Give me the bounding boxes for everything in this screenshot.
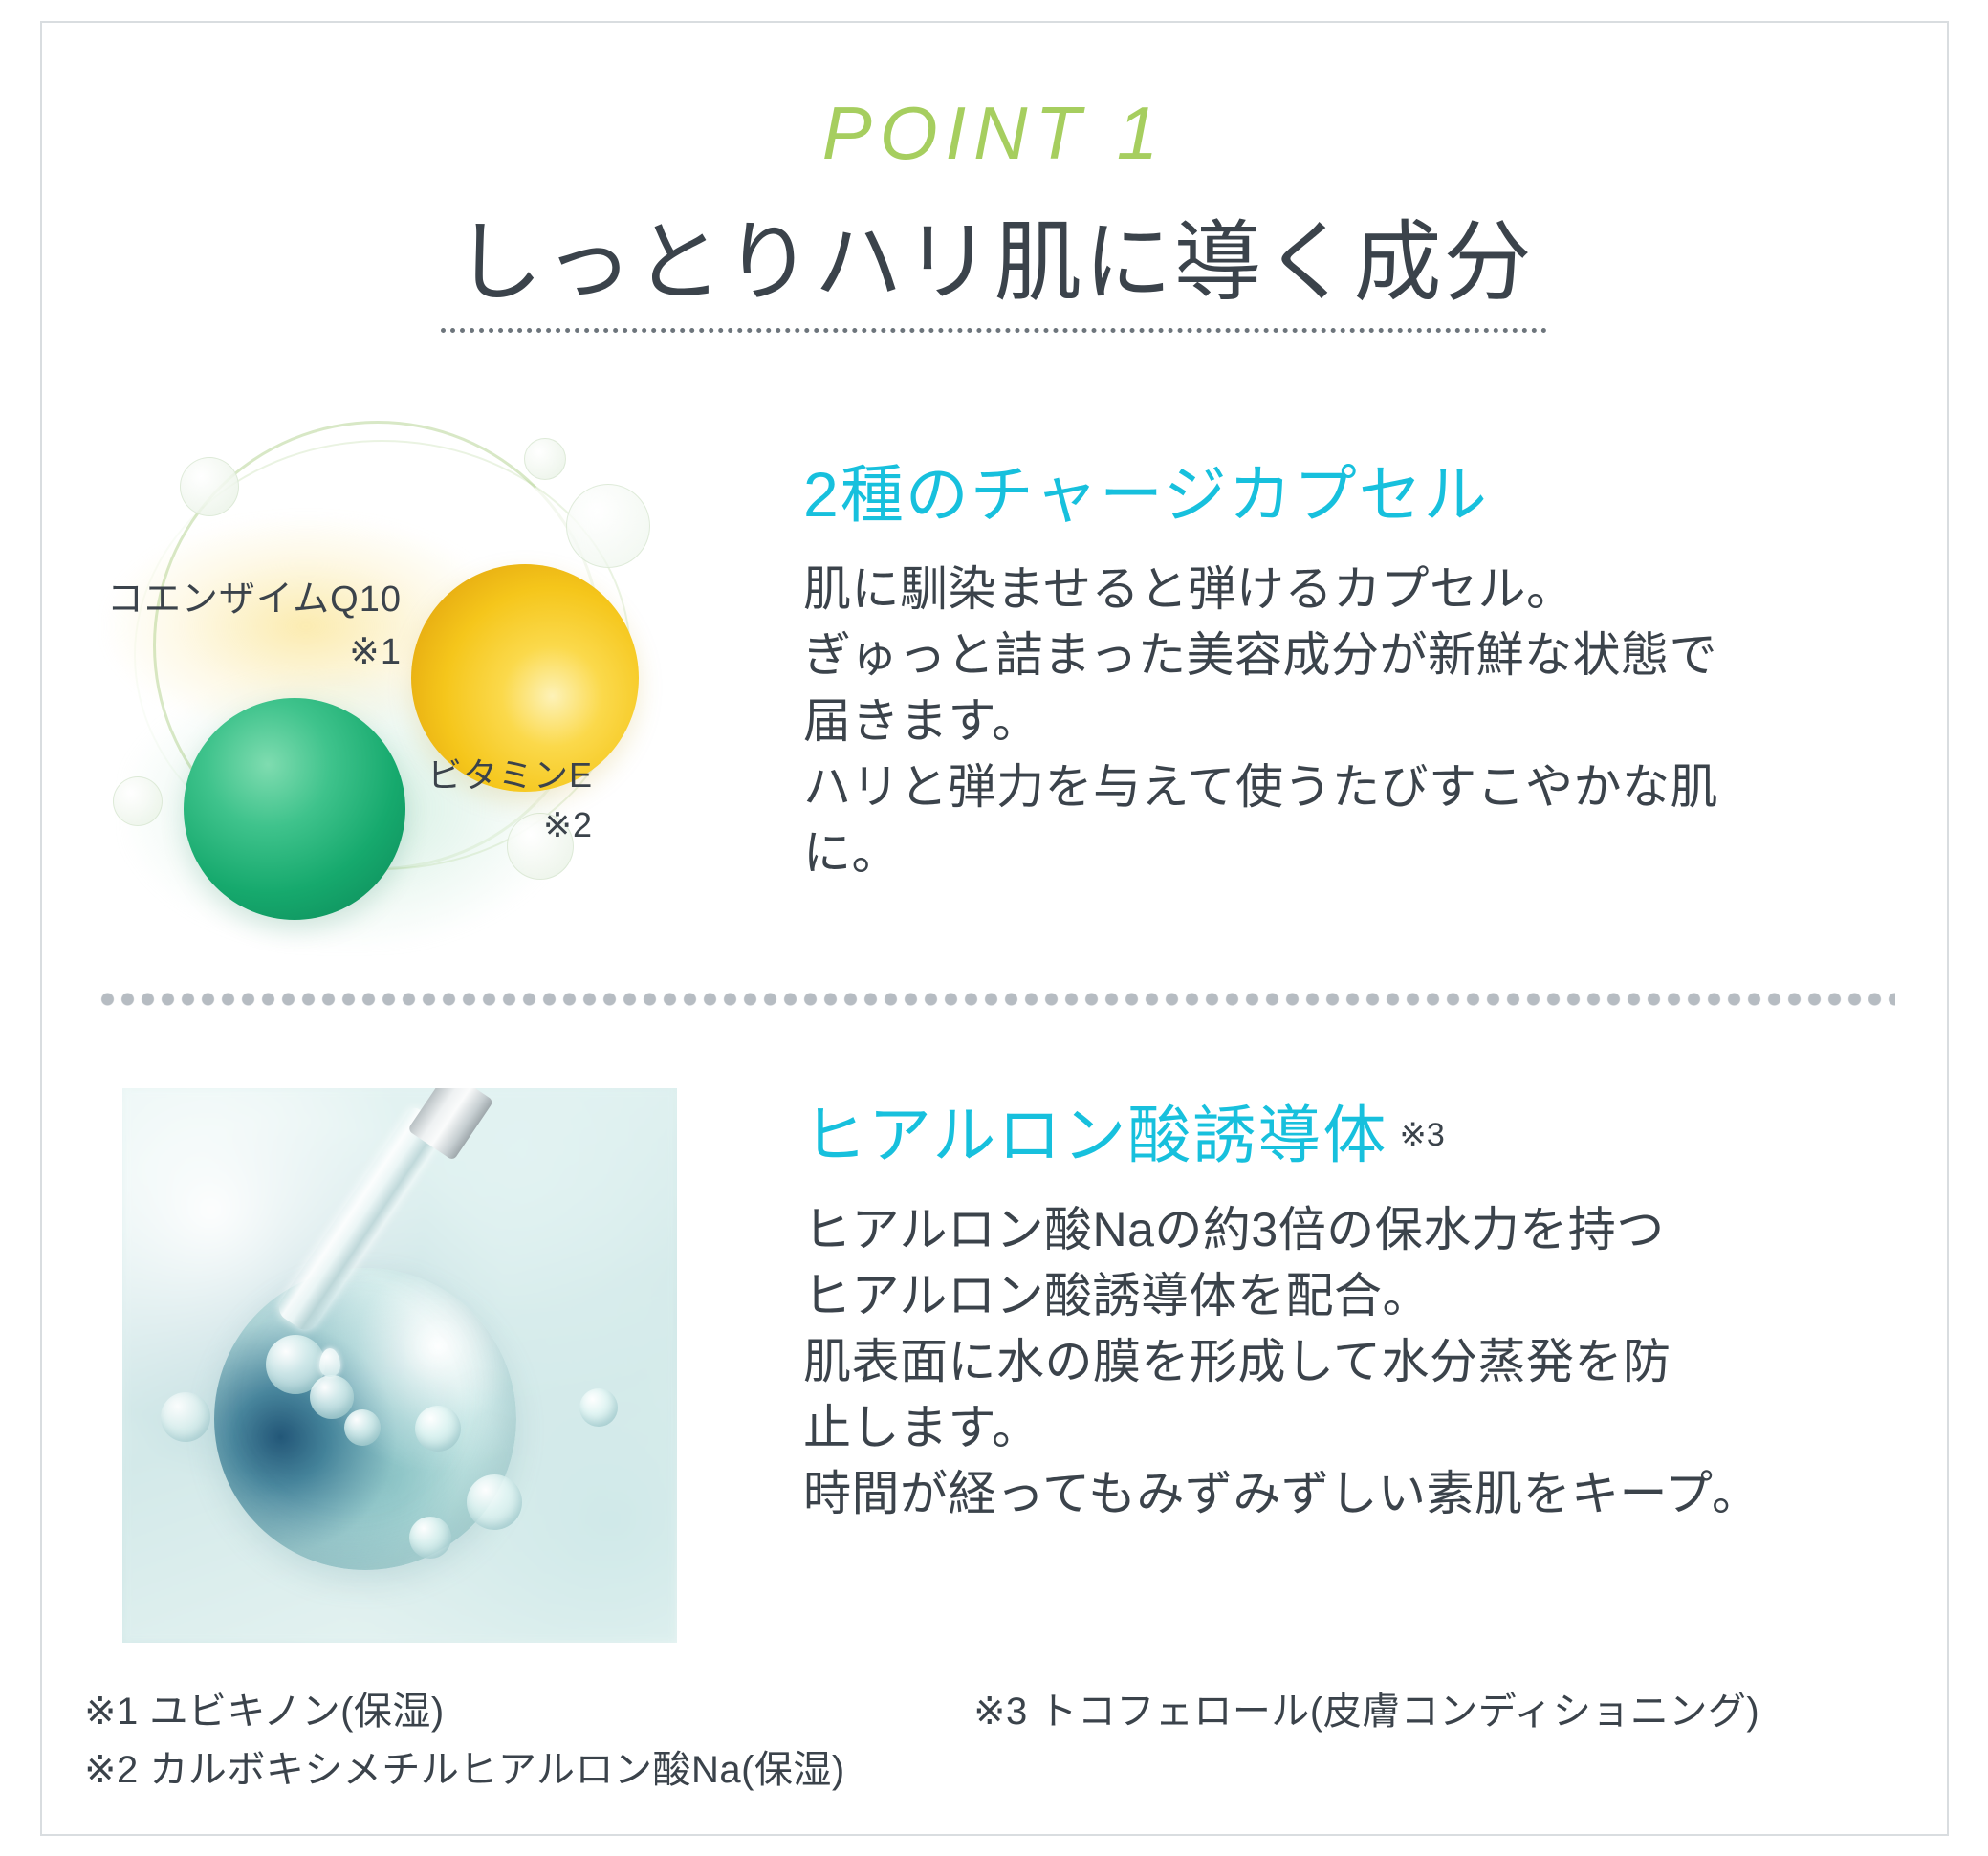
- bubble-icon: [467, 1474, 522, 1530]
- section-hyaluronic-acid-heading-text: ヒアルロン酸誘導体: [803, 1100, 1387, 1170]
- serum-drop-icon: [319, 1348, 340, 1377]
- bubble-icon: [566, 484, 650, 568]
- point-label: POINT 1: [0, 96, 1988, 170]
- footnote-item: ※2 カルボキシメチルヒアルロン酸Na(保湿): [84, 1741, 973, 1800]
- body-line: 時間が経ってもみずみずしい素肌をキープ。: [803, 1461, 1951, 1527]
- bubble-icon: [344, 1409, 381, 1446]
- page-title-wrap: しっとりハリ肌に導く成分: [0, 214, 1988, 333]
- vitamin-e-label-note: ※2: [363, 800, 593, 850]
- section-hyaluronic-acid-heading-note: ※3: [1399, 1117, 1444, 1153]
- coenzyme-q10-label-text: コエンザイムQ10: [107, 579, 402, 620]
- bubble-icon: [180, 457, 239, 516]
- footnote-item: ※1 ユビキノン(保湿): [84, 1683, 973, 1741]
- section-charge-capsule-body: 肌に馴染ませると弾けるカプセル。 ぎゅっと詰まった美容成分が新鮮な状態で 届きま…: [803, 557, 1932, 886]
- body-line: ヒアルロン酸誘導体を配合。: [803, 1263, 1951, 1329]
- bubble-icon: [310, 1375, 354, 1419]
- section-charge-capsule: コエンザイムQ10 ※1 ビタミンE ※2 2種のチャージカプセル 肌に馴染ませ…: [57, 411, 1932, 947]
- body-line: 止します。: [803, 1395, 1951, 1461]
- page-title: しっとりハリ肌に導く成分: [441, 214, 1546, 333]
- body-line: ハリと弾力を与えて使うたびすこやかな肌: [803, 754, 1932, 820]
- footnote-item: ※3 トコフェロール(皮膚コンディショニング): [973, 1683, 1920, 1741]
- body-line: 肌表面に水の膜を形成して水分蒸発を防: [803, 1329, 1951, 1395]
- bubble-icon: [524, 438, 566, 480]
- body-line: に。: [803, 820, 1932, 886]
- section-hyaluronic-acid-text: ヒアルロン酸誘導体※3 ヒアルロン酸Naの約3倍の保水力を持つ ヒアルロン酸誘導…: [803, 1100, 1951, 1527]
- body-line: 届きます。: [803, 688, 1932, 754]
- bubble-icon: [579, 1388, 618, 1427]
- body-line: 肌に馴染ませると弾けるカプセル。: [803, 557, 1932, 622]
- bubble-icon: [161, 1392, 210, 1442]
- section-charge-capsule-text: 2種のチャージカプセル 肌に馴染ませると弾けるカプセル。 ぎゅっと詰まった美容成…: [803, 459, 1932, 886]
- promo-page: POINT 1 しっとりハリ肌に導く成分 コエンザイムQ10 ※1 ビタミンE …: [0, 0, 1988, 1856]
- coenzyme-q10-label: コエンザイムQ10 ※1: [105, 574, 402, 679]
- body-line: ぎゅっと詰まった美容成分が新鮮な状態で: [803, 622, 1932, 688]
- bubble-icon: [409, 1517, 451, 1559]
- bubble-icon: [415, 1406, 461, 1452]
- vitamin-e-label: ビタミンE ※2: [363, 751, 593, 850]
- section-hyaluronic-acid-heading: ヒアルロン酸誘導体※3: [803, 1100, 1951, 1172]
- bubble-icon: [113, 776, 163, 826]
- footnotes: ※1 ユビキノン(保湿) ※2 カルボキシメチルヒアルロン酸Na(保湿) ※3 …: [84, 1683, 1930, 1800]
- vitamin-e-label-text: ビタミンE: [427, 755, 593, 795]
- body-line: ヒアルロン酸Naの約3倍の保水力を持つ: [803, 1197, 1951, 1263]
- section-charge-capsule-heading: 2種のチャージカプセル: [803, 459, 1932, 532]
- coenzyme-q10-label-note: ※1: [105, 626, 402, 679]
- footnotes-right-column: ※3 トコフェロール(皮膚コンディショニング): [973, 1683, 1920, 1800]
- section-hyaluronic-acid-body: ヒアルロン酸Naの約3倍の保水力を持つ ヒアルロン酸誘導体を配合。 肌表面に水の…: [803, 1197, 1951, 1527]
- footnotes-left-column: ※1 ユビキノン(保湿) ※2 カルボキシメチルヒアルロン酸Na(保湿): [84, 1683, 973, 1800]
- dotted-divider: [98, 993, 1895, 1006]
- dropper-sphere-photo: [122, 1088, 677, 1643]
- capsule-illustration: コエンザイムQ10 ※1 ビタミンE ※2: [96, 411, 727, 947]
- section-hyaluronic-acid: ヒアルロン酸誘導体※3 ヒアルロン酸Naの約3倍の保水力を持つ ヒアルロン酸誘導…: [57, 1071, 1932, 1645]
